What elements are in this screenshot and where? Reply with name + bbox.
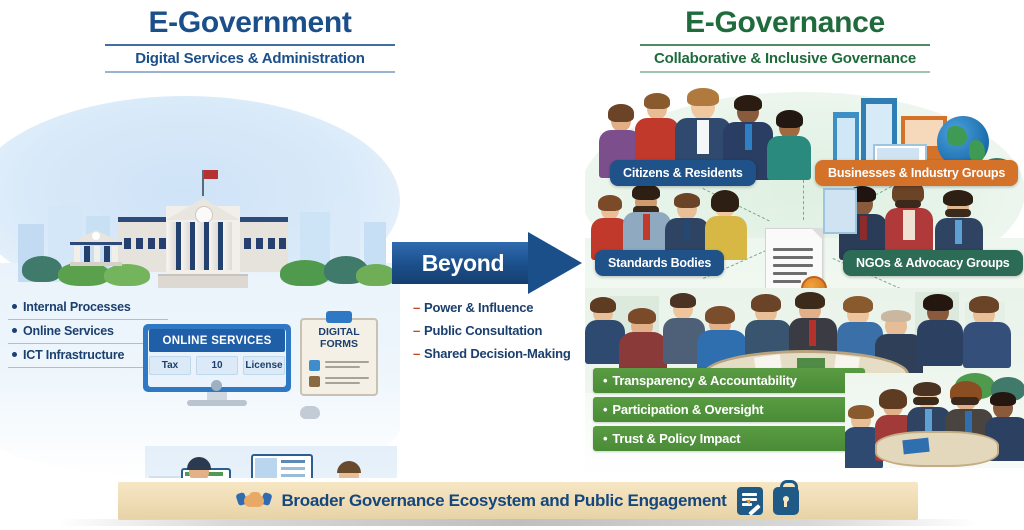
monitor-base <box>187 400 247 406</box>
left-title: E-Government <box>40 8 460 38</box>
lock-icon[interactable] <box>773 487 799 515</box>
bush-decoration <box>22 256 62 282</box>
bush-decoration <box>356 264 396 286</box>
right-title: E-Governance <box>575 8 995 38</box>
list-item-label: Public Consultation <box>424 323 542 338</box>
right-subtitle: Collaborative & Inclusive Governance <box>575 50 995 67</box>
e-government-illustration: Internal Processes Online Services ICT I… <box>0 88 400 478</box>
mouse-icon <box>300 406 320 419</box>
bush-decoration <box>104 264 150 286</box>
stakeholder-pill-businesses[interactable]: Businesses & Industry Groups <box>815 160 1018 186</box>
arrow-head <box>528 232 582 294</box>
transition-arrow: Beyond <box>392 232 582 294</box>
bullet-dot-icon: • <box>603 373 607 388</box>
government-workers-scene <box>145 446 397 478</box>
outcome-label: Participation & Oversight <box>612 402 763 417</box>
outcome-bar: •Participation & Oversight <box>593 397 865 422</box>
bullet-dot-icon <box>12 352 17 357</box>
document-edit-icon[interactable] <box>737 487 763 515</box>
service-chip-row: Tax 10 License <box>149 356 285 375</box>
dash-marker: – <box>413 300 420 315</box>
right-subtitle-rule <box>640 71 930 73</box>
right-title-rule <box>640 44 930 46</box>
list-item: –Power & Influence <box>413 300 591 315</box>
dash-marker: – <box>413 323 420 338</box>
e-governance-illustration: Citizens & Residents Businesses & Indust… <box>585 88 1024 478</box>
bullet-dot-icon <box>12 304 17 309</box>
outcome-bar: •Trust & Policy Impact <box>593 426 865 451</box>
stakeholder-pill-ngos[interactable]: NGOs & Advocacy Groups <box>843 250 1023 276</box>
online-services-monitor: ONLINE SERVICES Tax 10 License <box>143 324 291 392</box>
service-chip: License <box>243 356 285 375</box>
governance-outcomes-list: •Transparency & Accountability •Particip… <box>593 368 865 455</box>
bank-icon <box>68 220 124 266</box>
monitor-knob <box>211 380 222 391</box>
clipboard-title: DIGITAL FORMS <box>300 326 378 350</box>
bush-decoration <box>280 260 330 286</box>
banner-text: Broader Governance Ecosystem and Public … <box>281 491 726 511</box>
outcome-label: Transparency & Accountability <box>612 373 796 388</box>
clipboard-clip <box>326 311 352 323</box>
list-item: –Public Consultation <box>413 323 591 338</box>
clipboard-row <box>309 360 369 371</box>
list-item: –Shared Decision-Making <box>413 346 591 361</box>
outcome-bar: •Transparency & Accountability <box>593 368 865 393</box>
bullet-dot-icon: • <box>603 402 607 417</box>
list-item-label: Internal Processes <box>23 300 131 314</box>
arrow-label: Beyond <box>392 242 534 284</box>
left-subtitle: Digital Services & Administration <box>40 50 460 67</box>
list-item-label: Shared Decision-Making <box>424 346 571 361</box>
clipboard-row <box>309 376 369 387</box>
small-meeting-scene <box>845 373 1024 468</box>
outcome-label: Trust & Policy Impact <box>612 431 740 446</box>
stakeholder-pill-citizens[interactable]: Citizens & Residents <box>610 160 756 186</box>
dash-marker: – <box>413 346 420 361</box>
bullet-dot-icon <box>12 328 17 333</box>
list-item: Internal Processes <box>8 296 168 320</box>
list-item-label: Power & Influence <box>424 300 533 315</box>
bullet-dot-icon: • <box>603 431 607 446</box>
left-title-block: E-Government Digital Services & Administ… <box>40 8 460 73</box>
stakeholder-pill-standards-bodies[interactable]: Standards Bodies <box>595 250 724 276</box>
service-chip: Tax <box>149 356 191 375</box>
bottom-banner: Broader Governance Ecosystem and Public … <box>118 482 918 520</box>
beyond-feature-list: –Power & Influence –Public Consultation … <box>413 300 591 369</box>
infographic-canvas: E-Government Digital Services & Administ… <box>0 0 1024 530</box>
right-title-block: E-Governance Collaborative & Inclusive G… <box>575 8 995 73</box>
service-chip: 10 <box>196 356 238 375</box>
left-title-rule <box>105 44 395 46</box>
handshake-icon <box>237 490 271 512</box>
list-item-label: Online Services <box>23 324 114 338</box>
online-services-header: ONLINE SERVICES <box>149 329 285 352</box>
connector-line <box>803 180 804 220</box>
digital-forms-clipboard: DIGITAL FORMS <box>300 318 378 396</box>
list-item-label: ICT Infrastructure <box>23 348 124 362</box>
left-subtitle-rule <box>105 71 395 73</box>
